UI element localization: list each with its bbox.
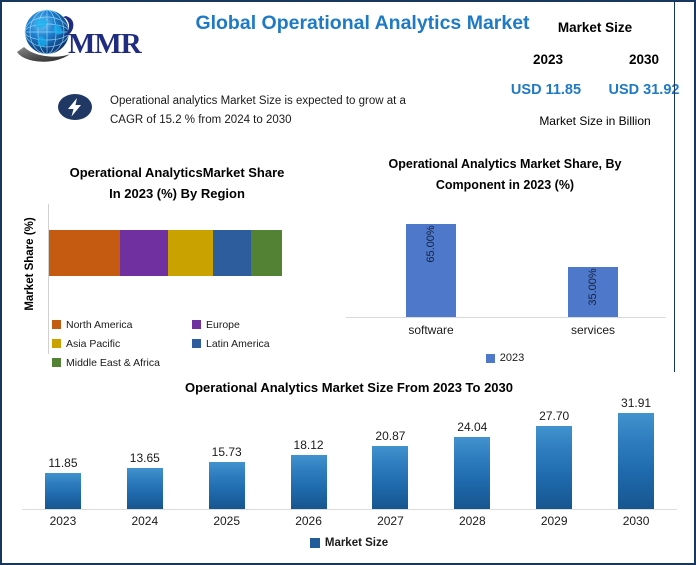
market-size-x-label-2023: 2023 — [28, 514, 98, 528]
region-chart-legend: North AmericaEuropeAsia PacificLatin Ame… — [52, 315, 328, 372]
market-size-bar-2026 — [291, 455, 327, 509]
legend-label: North America — [66, 319, 133, 331]
legend-label: Europe — [206, 319, 240, 331]
infographic-page: MMR Global Operational Analytics Market … — [0, 0, 696, 565]
component-bar-value-services: 35.00% — [587, 268, 599, 305]
component-chart-legend: 2023 — [336, 352, 674, 364]
market-size-legend-label: Market Size — [325, 537, 388, 549]
legend-row: North AmericaEurope — [52, 315, 328, 334]
component-x-label-services: services — [538, 323, 648, 337]
region-segment-asia-pacific — [168, 230, 213, 276]
market-size-value-2025: 15.73 — [192, 445, 262, 459]
region-stacked-bar — [49, 230, 282, 276]
market-size-bar-2023 — [45, 473, 81, 509]
component-chart-title: Operational Analytics Market Share, By C… — [352, 154, 658, 196]
region-chart-y-axis-label: Market Share (%) — [24, 204, 36, 324]
component-chart-plot: 65.00%35.00% — [346, 202, 666, 317]
region-segment-latin-america — [213, 230, 251, 276]
legend-label: Middle East & Africa — [66, 357, 160, 369]
market-size-value-2028: 24.04 — [437, 420, 507, 434]
legend-item-north-america[interactable]: North America — [52, 319, 192, 331]
market-size-legend-swatch — [310, 538, 320, 548]
market-size-x-label-2026: 2026 — [274, 514, 344, 528]
legend-item-asia-pacific[interactable]: Asia Pacific — [52, 338, 192, 350]
component-bar-services: 35.00% — [568, 267, 618, 317]
component-legend-swatch-2023 — [486, 354, 495, 363]
market-size-bar-2025 — [209, 462, 245, 509]
component-chart-title-line1: Operational Analytics Market Share, By — [352, 154, 658, 175]
brand-name: MMR — [68, 28, 141, 61]
market-size-chart-title: Operational Analytics Market Size From 2… — [4, 380, 694, 395]
market-size-chart-legend: Market Size — [4, 537, 694, 549]
legend-row: Middle East & Africa — [52, 353, 328, 372]
page-title: Global Operational Analytics Market — [190, 12, 535, 35]
vertical-divider — [674, 2, 675, 372]
lightning-bolt-icon — [58, 94, 92, 120]
market-size-x-label-2027: 2027 — [355, 514, 425, 528]
region-chart-y-axis-line — [48, 204, 49, 354]
legend-row: Asia PacificLatin America — [52, 334, 328, 353]
legend-item-latin-america[interactable]: Latin America — [192, 338, 270, 350]
market-size-value-2024: 13.65 — [110, 451, 180, 465]
market-size-x-label-2028: 2028 — [437, 514, 507, 528]
market-size-heading: Market Size — [499, 20, 691, 35]
region-segment-north-america — [49, 230, 120, 276]
chart-market-share-by-component: Operational Analytics Market Share, By C… — [336, 154, 674, 392]
brand-logo: MMR — [14, 6, 154, 66]
market-size-value-start: USD 11.85 — [500, 82, 592, 98]
market-size-year-end: 2030 — [603, 52, 685, 67]
legend-label: Asia Pacific — [66, 338, 120, 350]
legend-label: Latin America — [206, 338, 270, 350]
cagr-line-1: Operational analytics Market Size is exp… — [110, 92, 470, 111]
market-size-x-label-2025: 2025 — [192, 514, 262, 528]
market-size-value-2030: 31.91 — [601, 396, 671, 410]
component-x-label-software: software — [376, 323, 486, 337]
legend-item-europe[interactable]: Europe — [192, 319, 240, 331]
market-size-year-start: 2023 — [507, 52, 589, 67]
legend-swatch-icon — [192, 339, 201, 348]
component-chart-title-line2: Component in 2023 (%) — [352, 175, 658, 196]
market-size-value-end: USD 31.92 — [598, 82, 690, 98]
market-size-x-label-2029: 2029 — [519, 514, 589, 528]
region-chart-title-line1: Operational AnalyticsMarket Share — [30, 162, 324, 183]
region-segment-europe — [120, 230, 168, 276]
cagr-description: Operational analytics Market Size is exp… — [110, 92, 470, 130]
component-legend-label-2023: 2023 — [500, 352, 524, 364]
component-bar-value-software: 65.00% — [425, 225, 437, 262]
market-size-bar-2029 — [536, 426, 572, 509]
market-size-panel: Market Size 2023 2030 USD 11.85 USD 31.9… — [499, 20, 691, 144]
market-size-value-2026: 18.12 — [274, 438, 344, 452]
market-size-chart-baseline — [22, 509, 677, 510]
legend-swatch-icon — [192, 320, 201, 329]
legend-swatch-icon — [52, 358, 61, 367]
chart-market-size-2023-2030: Operational Analytics Market Size From 2… — [4, 380, 694, 563]
market-size-x-label-2030: 2030 — [601, 514, 671, 528]
market-size-bar-2027 — [372, 446, 408, 509]
chart-market-share-by-region: Operational AnalyticsMarket Share In 202… — [6, 160, 336, 380]
market-size-value-2023: 11.85 — [28, 456, 98, 470]
market-size-bar-2030 — [618, 413, 654, 509]
cagr-line-2: CAGR of 15.2 % from 2024 to 2030 — [110, 111, 470, 130]
market-size-bar-2028 — [454, 437, 490, 509]
market-size-bar-2024 — [127, 468, 163, 509]
market-size-x-label-2024: 2024 — [110, 514, 180, 528]
component-bar-software: 65.00% — [406, 224, 456, 317]
legend-swatch-icon — [52, 339, 61, 348]
region-segment-middle-east-africa — [251, 230, 282, 276]
component-chart-baseline — [346, 317, 666, 318]
legend-swatch-icon — [52, 320, 61, 329]
market-size-value-2027: 20.87 — [355, 429, 425, 443]
market-size-value-2029: 27.70 — [519, 409, 589, 423]
market-size-unit-note: Market Size in Billion — [499, 114, 691, 128]
legend-item-middle-east-africa[interactable]: Middle East & Africa — [52, 357, 192, 369]
region-chart-title: Operational AnalyticsMarket Share In 202… — [30, 162, 324, 204]
region-chart-title-line2: In 2023 (%) By Region — [30, 183, 324, 204]
